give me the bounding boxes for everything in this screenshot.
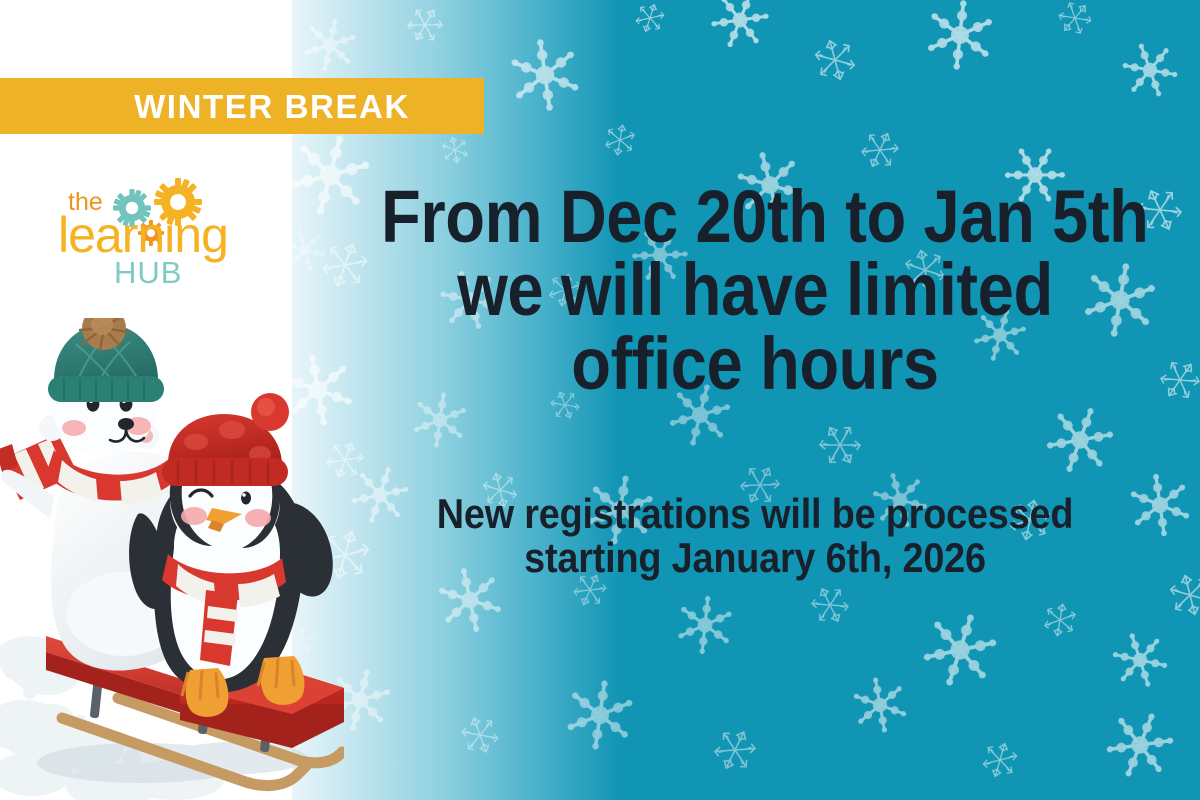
penguin (129, 393, 333, 717)
winter-break-announcement-banner: WINTER BREAK (0, 0, 1200, 800)
subheading-text: New registrations will be processed star… (373, 492, 1138, 579)
the-learning-hub-logo: the learning HUB (52, 176, 242, 288)
winter-break-ribbon: WINTER BREAK (0, 78, 484, 134)
penguin-pompom (251, 393, 289, 431)
headline-line-1: From Dec 20th to Jan 5th (381, 180, 1129, 253)
polar-bear-penguin-sled-illustration (0, 318, 344, 800)
headline-line-3: office hours (381, 327, 1129, 400)
penguin-beanie-hat (162, 393, 289, 486)
headline-block: From Dec 20th to Jan 5th we will have li… (330, 180, 1180, 400)
subheading-line-2: starting January 6th, 2026 (373, 536, 1138, 580)
bear-beanie-hat (48, 318, 164, 402)
penguin-eye-right (241, 492, 251, 505)
headline-text: From Dec 20th to Jan 5th we will have li… (381, 180, 1129, 400)
subheading-line-1: New registrations will be processed (373, 492, 1138, 536)
headline-line-2: we will have limited (381, 253, 1129, 326)
bear-nose (118, 418, 134, 430)
logo-text-hub: HUB (114, 255, 182, 288)
subheading-block: New registrations will be processed star… (330, 492, 1180, 579)
ribbon-label: WINTER BREAK (74, 90, 410, 123)
